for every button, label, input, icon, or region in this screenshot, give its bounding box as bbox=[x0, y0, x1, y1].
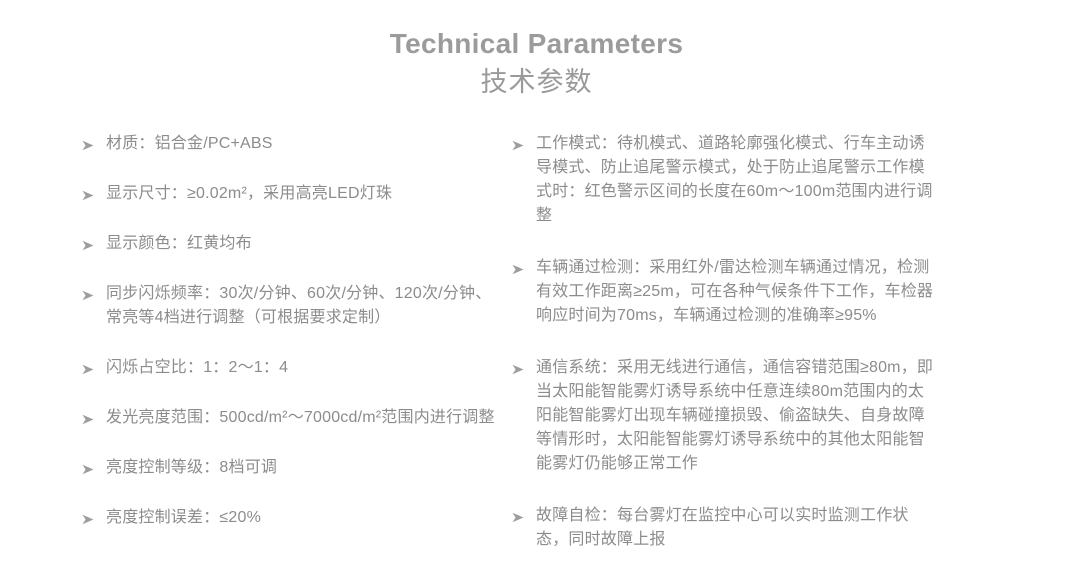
list-item-label: 通信系统：采用无线进行通信，通信容错范围≥80m，即当太阳能智能雾灯诱导系统中任… bbox=[536, 356, 936, 476]
specs-columns: 材质：铝合金/PC+ABS 显示尺寸：≥0.02m²，采用高亮LED灯珠 显示颜… bbox=[0, 132, 1073, 552]
arrowhead-right-icon bbox=[512, 504, 536, 523]
list-item-label: 材质：铝合金/PC+ABS bbox=[106, 132, 500, 156]
list-item-label: 车辆通过检测：采用红外/雷达检测车辆通过情况，检测有效工作距离≥25m，可在各种… bbox=[536, 256, 936, 328]
arrowhead-right-icon bbox=[82, 406, 106, 425]
list-item: 故障自检：每台雾灯在监控中心可以实时监测工作状态，同时故障上报 bbox=[512, 504, 970, 552]
page-header: Technical Parameters 技术参数 bbox=[0, 0, 1073, 100]
list-item: 同步闪烁频率：30次/分钟、60次/分钟、120次/分钟、常亮等4档进行调整（可… bbox=[82, 282, 500, 330]
list-item: 闪烁占空比：1：2～1：4 bbox=[82, 356, 500, 380]
arrowhead-right-icon bbox=[82, 506, 106, 525]
list-item: 发光亮度范围：500cd/m²～7000cd/m²范围内进行调整 bbox=[82, 406, 500, 430]
arrowhead-right-icon bbox=[512, 256, 536, 275]
page-title-chinese: 技术参数 bbox=[0, 65, 1073, 100]
list-item: 亮度控制误差：≤20% bbox=[82, 506, 500, 530]
arrowhead-right-icon bbox=[82, 132, 106, 151]
list-item: 车辆通过检测：采用红外/雷达检测车辆通过情况，检测有效工作距离≥25m，可在各种… bbox=[512, 256, 970, 328]
specs-column-left: 材质：铝合金/PC+ABS 显示尺寸：≥0.02m²，采用高亮LED灯珠 显示颜… bbox=[0, 132, 500, 530]
page-title-english: Technical Parameters bbox=[0, 26, 1073, 61]
arrowhead-right-icon bbox=[82, 182, 106, 201]
list-item-label: 亮度控制等级：8档可调 bbox=[106, 456, 500, 480]
arrowhead-right-icon bbox=[82, 456, 106, 475]
list-item-label: 同步闪烁频率：30次/分钟、60次/分钟、120次/分钟、常亮等4档进行调整（可… bbox=[106, 282, 500, 330]
list-item: 工作模式：待机模式、道路轮廓强化模式、行车主动诱导模式、防止追尾警示模式，处于防… bbox=[512, 132, 970, 228]
arrowhead-right-icon bbox=[512, 356, 536, 375]
list-item: 显示颜色：红黄均布 bbox=[82, 232, 500, 256]
arrowhead-right-icon bbox=[82, 282, 106, 301]
list-item-label: 工作模式：待机模式、道路轮廓强化模式、行车主动诱导模式、防止追尾警示模式，处于防… bbox=[536, 132, 936, 228]
specs-column-right: 工作模式：待机模式、道路轮廓强化模式、行车主动诱导模式、防止追尾警示模式，处于防… bbox=[500, 132, 970, 552]
technical-parameters-page: Technical Parameters 技术参数 材质：铝合金/PC+ABS bbox=[0, 0, 1073, 585]
list-item: 材质：铝合金/PC+ABS bbox=[82, 132, 500, 156]
arrowhead-right-icon bbox=[82, 232, 106, 251]
arrowhead-right-icon bbox=[512, 132, 536, 151]
list-item-label: 发光亮度范围：500cd/m²～7000cd/m²范围内进行调整 bbox=[106, 406, 500, 430]
list-item-label: 显示尺寸：≥0.02m²，采用高亮LED灯珠 bbox=[106, 182, 500, 206]
list-item: 显示尺寸：≥0.02m²，采用高亮LED灯珠 bbox=[82, 182, 500, 206]
list-item: 通信系统：采用无线进行通信，通信容错范围≥80m，即当太阳能智能雾灯诱导系统中任… bbox=[512, 356, 970, 476]
list-item: 亮度控制等级：8档可调 bbox=[82, 456, 500, 480]
list-item-label: 显示颜色：红黄均布 bbox=[106, 232, 500, 256]
list-item-label: 闪烁占空比：1：2～1：4 bbox=[106, 356, 500, 380]
list-item-label: 亮度控制误差：≤20% bbox=[106, 506, 500, 530]
list-item-label: 故障自检：每台雾灯在监控中心可以实时监测工作状态，同时故障上报 bbox=[536, 504, 936, 552]
arrowhead-right-icon bbox=[82, 356, 106, 375]
